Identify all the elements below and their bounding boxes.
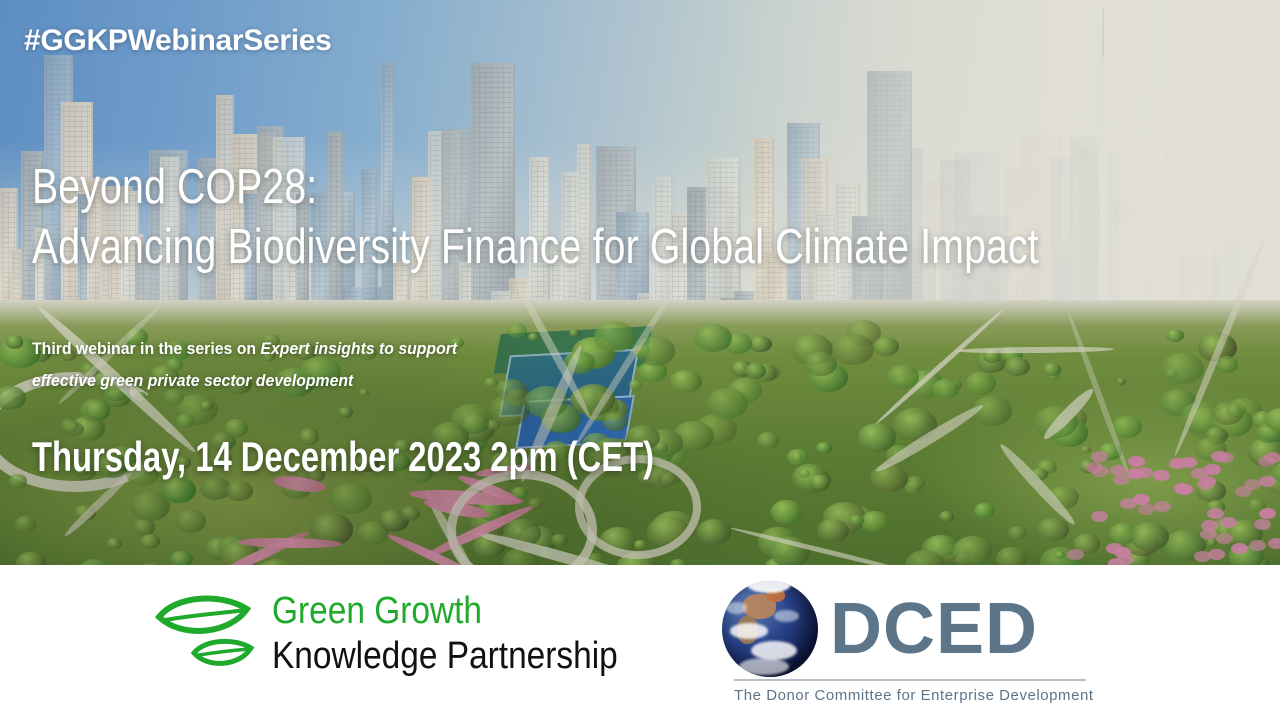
subtitle-lead: Third webinar in the series on [32, 339, 260, 358]
logo-footer: Green Growth Knowledge Partnership DCED [0, 565, 1280, 720]
campaign-hashtag: #GGKPWebinarSeries [24, 24, 332, 58]
dced-tagline: The Donor Committee for Enterprise Devel… [734, 687, 1086, 704]
title-line-1: Beyond COP28: [32, 160, 317, 214]
ggkp-logo: Green Growth Knowledge Partnership [152, 587, 665, 683]
ggkp-line-2: Knowledge Partnership [272, 633, 618, 679]
background-photo: #GGKPWebinarSeries Beyond COP28: Advanci… [0, 0, 1280, 565]
dced-wordmark: DCED [830, 592, 1038, 666]
webinar-promo-banner: #GGKPWebinarSeries Beyond COP28: Advanci… [0, 0, 1280, 720]
subtitle-line-2: effective green private sector developme… [32, 365, 457, 397]
webinar-subtitle: Third webinar in the series on Expert in… [32, 333, 457, 397]
event-datetime: Thursday, 14 December 2023 2pm (CET) [32, 432, 654, 482]
dced-logo: DCED The Donor Committee for Enterprise … [722, 575, 1092, 683]
title-line-2: Advancing Biodiversity Finance for Globa… [32, 217, 1039, 277]
globe-icon [722, 581, 818, 677]
subtitle-emphasis: Expert insights to support [260, 339, 457, 358]
ggkp-wordmark: Green Growth Knowledge Partnership [272, 587, 665, 679]
leaf-icon [152, 587, 270, 683]
ggkp-line-1: Green Growth [272, 589, 618, 633]
page-title: Beyond COP28: Advancing Biodiversity Fin… [32, 157, 1039, 277]
dced-divider [734, 679, 1086, 681]
